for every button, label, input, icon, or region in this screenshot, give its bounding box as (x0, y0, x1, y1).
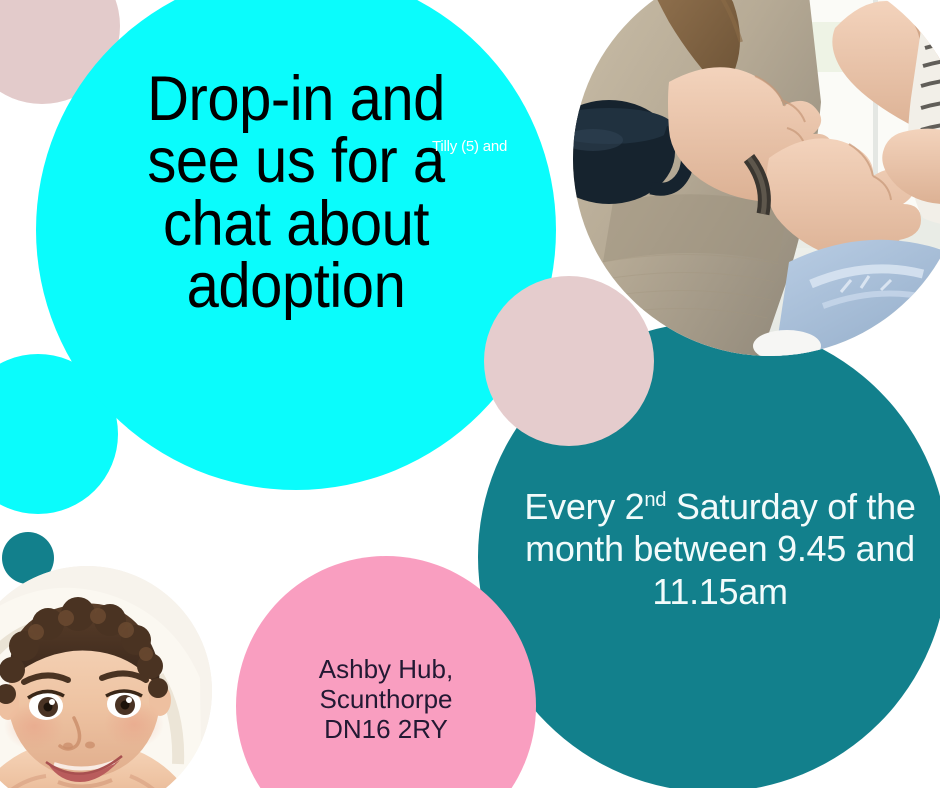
baby-photo (0, 566, 212, 788)
schedule-ordinal-suffix: nd (644, 489, 666, 511)
venue-address: Ashby Hub, Scunthorpe DN16 2RY (286, 654, 486, 744)
schedule-prefix: Every 2 (524, 486, 644, 527)
adoption-drop-in-poster: Drop-in and see us for a chat about adop… (0, 0, 940, 788)
decorative-circle-dusty-pink-center (484, 276, 654, 446)
child-photo-credit: Tilly (5) and (432, 139, 530, 156)
page-title: Drop-in and see us for a chat about adop… (112, 68, 480, 317)
schedule-text: Every 2nd Saturday of the month between … (522, 486, 918, 613)
